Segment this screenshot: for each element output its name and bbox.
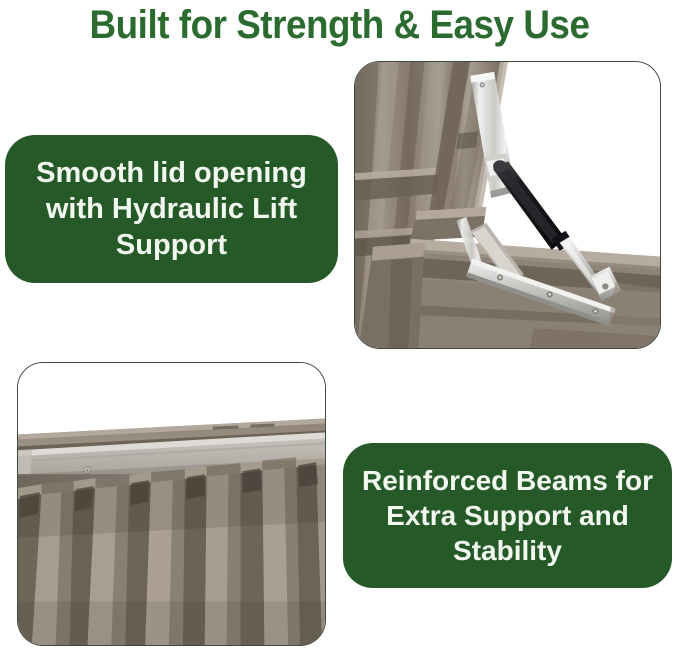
photo-hydraulic-lift-support-image [355, 62, 660, 348]
callout-hydraulic-lift: Smooth lid opening with Hydraulic Lift S… [5, 135, 338, 283]
page-title: Built for Strength & Easy Use [27, 2, 652, 48]
callout-reinforced-beams: Reinforced Beams for Extra Support and S… [343, 443, 672, 588]
callout-hydraulic-lift-text: Smooth lid opening with Hydraulic Lift S… [19, 155, 324, 263]
photo-reinforced-beams [17, 362, 326, 646]
photo-hydraulic-lift-support [354, 61, 661, 349]
callout-reinforced-beams-text: Reinforced Beams for Extra Support and S… [357, 463, 658, 568]
photo-reinforced-beams-image [18, 363, 325, 645]
